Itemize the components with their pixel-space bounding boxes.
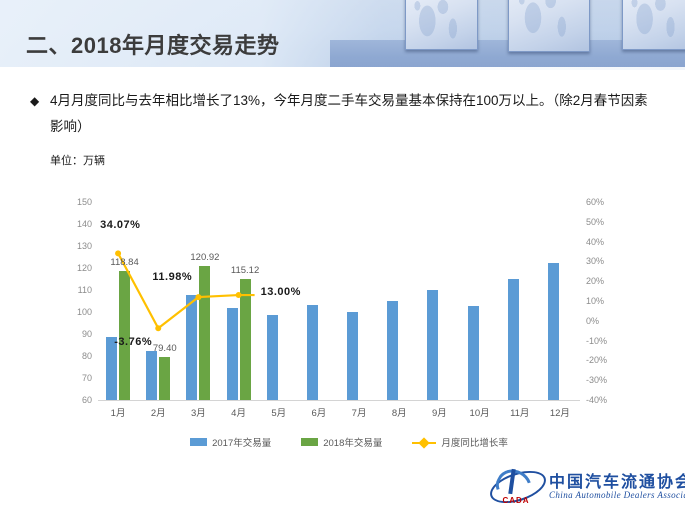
x-axis-tick: 7月 [339,405,379,419]
legend-label: 月度同比增长率 [441,435,508,449]
y-axis-tick: 60 [58,395,92,405]
bar-value-label: 120.92 [190,252,219,263]
y2-axis-tick: -10% [586,336,632,346]
x-axis-tick: 11月 [500,405,540,419]
y2-axis-tick: -20% [586,355,632,365]
growth-value-label: 13.00% [261,286,301,298]
x-axis-tick: 12月 [540,405,580,419]
cube-side-face [477,0,478,50]
x-axis-tick: 8月 [379,405,419,419]
legend-swatch-icon [190,438,207,446]
legend-item[interactable]: 月度同比增长率 [412,435,508,449]
y-axis-tick: 80 [58,351,92,361]
unit-label: 单位：万辆 [50,152,105,168]
world-map-texture [406,0,477,49]
bar-value-label: 79.40 [153,343,177,354]
x-axis-tick: 9月 [419,405,459,419]
cube-icon [508,0,590,52]
y2-axis-tick: 30% [586,256,632,266]
y2-axis-tick: -30% [586,375,632,385]
bar-value-label: 115.12 [231,265,259,276]
legend-label: 2017年交易量 [212,435,271,449]
legend-line-marker-icon [412,438,436,447]
cube-icon [405,0,478,50]
y2-axis-tick: 50% [586,217,632,227]
legend-label: 2018年交易量 [323,435,382,449]
cada-logo-icon: CADA 中国汽车流通协会 China Automobile Dealers A… [487,464,679,509]
y-axis-tick: 110 [58,285,92,295]
x-axis-tick: 1月 [98,405,138,419]
chart-legend: 2017年交易量2018年交易量月度同比增长率 [58,435,640,449]
y-axis-tick: 130 [58,241,92,251]
monthly-trend-chart: 15014013012011010090807060 60%50%40%30%2… [58,188,640,460]
growth-line-series [98,202,580,400]
growth-value-label: -3.76% [114,336,152,348]
y-axis-tick: 100 [58,307,92,317]
growth-value-label: 34.07% [100,219,140,231]
logo-mark: CADA [487,466,545,506]
legend-swatch-icon [301,438,318,446]
bar-value-label: 118.84 [110,257,138,268]
page-title: 二、2018年月度交易走势 [26,28,279,60]
x-axis-tick: 3月 [178,405,218,419]
x-axis-tick: 10月 [460,405,500,419]
y2-axis-tick: 60% [586,197,632,207]
x-axis-tick: 2月 [138,405,178,419]
y-axis-tick: 70 [58,373,92,383]
header-divider [0,67,685,70]
y2-axis-tick: -40% [586,395,632,405]
bullet-text: 4月月度同比与去年相比增长了13%，今年月度二手车交易量基本保持在100万以上。… [50,88,660,140]
logo-abbr: CADA [491,496,541,505]
legend-item[interactable]: 2018年交易量 [301,435,382,449]
cube-icon [622,0,685,50]
plot-area: 118.8479.40120.92115.12 34.07%-3.76%11.9… [98,202,580,400]
growth-value-label: 11.98% [152,271,192,283]
y-axis-tick: 150 [58,197,92,207]
x-axis-tick: 5月 [259,405,299,419]
y2-axis-tick: 0% [586,316,632,326]
world-map-texture [623,0,685,49]
logo-name-cn: 中国汽车流通协会 [549,468,685,492]
cube-side-face [589,0,590,52]
y2-axis-tick: 20% [586,276,632,286]
y-axis-tick: 120 [58,263,92,273]
chart-baseline [98,400,580,401]
y2-axis-tick: 40% [586,237,632,247]
y-axis-tick: 140 [58,219,92,229]
world-map-texture [509,0,589,51]
logo-name-en: China Automobile Dealers Association [549,490,685,500]
y-axis-tick: 90 [58,329,92,339]
bullet-paragraph: ◆ 4月月度同比与去年相比增长了13%，今年月度二手车交易量基本保持在100万以… [30,88,660,140]
x-axis-tick: 4月 [219,405,259,419]
bullet-diamond-icon: ◆ [30,88,39,114]
legend-item[interactable]: 2017年交易量 [190,435,271,449]
x-axis-tick: 6月 [299,405,339,419]
slide-header: 二、2018年月度交易走势 [0,0,685,68]
y2-axis-tick: 10% [586,296,632,306]
